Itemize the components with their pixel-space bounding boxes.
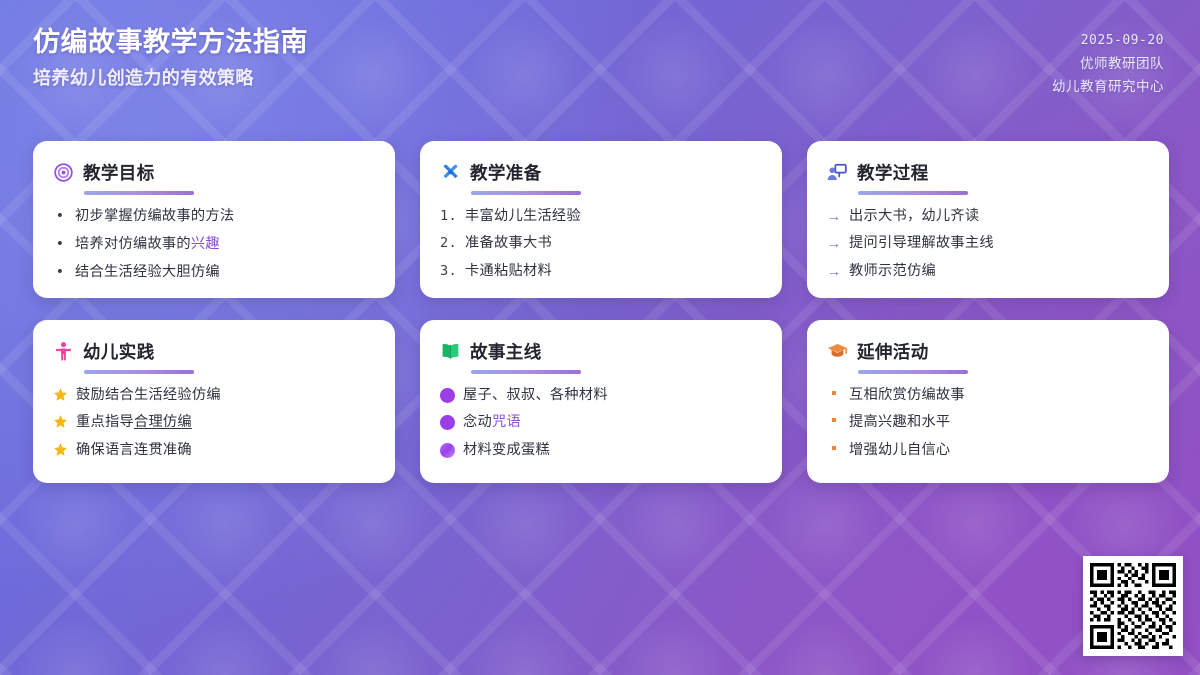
graduation-cap-icon (827, 341, 848, 362)
list-number: 2. (440, 234, 457, 252)
list-item-text: 重点指导合理仿编 (76, 413, 375, 431)
card-header: 教学准备 (440, 160, 762, 185)
list-number: 1. (440, 207, 457, 225)
list-item: •初步掌握仿编故事的方法 (53, 207, 375, 226)
header-date: 2025-09-20 (1081, 32, 1164, 50)
list-item-label: 教师示范仿编 (849, 263, 936, 279)
list-item: •结合生活经验大胆仿编 (53, 263, 375, 282)
list-item-label: 卡通粘贴材料 (465, 263, 552, 279)
dot-bullet-icon: • (53, 207, 67, 226)
list-item: •培养对仿编故事的兴趣 (53, 235, 375, 254)
page-title: 仿编故事教学方法指南 (33, 26, 308, 60)
square-bullet-icon: ▪ (827, 386, 841, 403)
list-item-text: 互相欣赏仿编故事 (849, 386, 1149, 404)
list-item: 材料变成蛋糕 (440, 441, 762, 459)
list-item-label: 出示大书，幼儿齐读 (849, 208, 979, 224)
dot-bullet-icon: • (53, 263, 67, 282)
card-header: 幼儿实践 (53, 339, 375, 364)
list-item: 1.丰富幼儿生活经验 (440, 207, 762, 225)
list-item-label: 提问引导理解故事主线 (849, 235, 994, 251)
child-icon (53, 341, 74, 362)
header-team: 优师教研团队 (1080, 55, 1164, 73)
card-item-list: ▪互相欣赏仿编故事▪提高兴趣和水平▪增强幼儿自信心 (827, 386, 1149, 459)
list-item: ▪提高兴趣和水平 (827, 413, 1149, 431)
list-item-label: 重点指导 (76, 414, 134, 430)
list-item-label: 确保语言连贯准确 (76, 442, 192, 458)
qr-code-container[interactable] (1083, 556, 1183, 656)
list-item-text: 培养对仿编故事的兴趣 (75, 235, 375, 253)
list-item-label: 准备故事大书 (465, 235, 552, 251)
highlighted-term: 咒语 (492, 414, 521, 430)
list-item-text: 鼓励结合生活经验仿编 (76, 386, 375, 404)
title-underline-bar (471, 370, 581, 374)
card-title: 故事主线 (470, 339, 542, 364)
card-title: 延伸活动 (857, 339, 929, 364)
list-item-label: 增强幼儿自信心 (849, 442, 950, 458)
list-item-text: 初步掌握仿编故事的方法 (75, 207, 375, 225)
list-item: 屋子、叔叔、各种材料 (440, 386, 762, 404)
list-item-text: 丰富幼儿生活经验 (465, 207, 762, 225)
list-item: →提问引导理解故事主线 (827, 234, 1149, 252)
list-item-label: 初步掌握仿编故事的方法 (75, 208, 234, 224)
page-header: 仿编故事教学方法指南 培养幼儿创造力的有效策略 2025-09-20 优师教研团… (0, 0, 1200, 125)
list-item-label: 丰富幼儿生活经验 (465, 208, 581, 224)
list-item-text: 卡通粘贴材料 (465, 262, 762, 280)
list-item-label: 材料变成蛋糕 (463, 442, 550, 458)
page-subtitle: 培养幼儿创造力的有效策略 (33, 67, 308, 90)
list-item-label: 屋子、叔叔、各种材料 (463, 387, 608, 403)
target-icon (53, 162, 74, 183)
list-item: →教师示范仿编 (827, 262, 1149, 280)
arrow-bullet-icon: → (827, 207, 841, 225)
list-item: →出示大书，幼儿齐读 (827, 207, 1149, 225)
list-item: 确保语言连贯准确 (53, 441, 375, 459)
list-item-text: 提高兴趣和水平 (849, 413, 1149, 431)
list-item-text: 准备故事大书 (465, 234, 762, 252)
card-title: 教学过程 (857, 160, 929, 185)
list-item-text: 确保语言连贯准确 (76, 441, 375, 459)
arrow-bullet-icon: → (827, 234, 841, 252)
list-item-text: 出示大书，幼儿齐读 (849, 207, 1149, 225)
list-item: 鼓励结合生活经验仿编 (53, 386, 375, 404)
square-bullet-icon: ▪ (827, 441, 841, 458)
card-child-practice[interactable]: 幼儿实践鼓励结合生活经验仿编重点指导合理仿编确保语言连贯准确 (33, 320, 395, 483)
card-teaching-process[interactable]: 教学过程→出示大书，幼儿齐读→提问引导理解故事主线→教师示范仿编 (807, 141, 1169, 298)
title-underline-bar (858, 191, 968, 195)
list-item-text: 提问引导理解故事主线 (849, 234, 1149, 252)
square-bullet-icon: ▪ (827, 413, 841, 430)
card-header: 故事主线 (440, 339, 762, 364)
card-item-list: 屋子、叔叔、各种材料念动咒语材料变成蛋糕 (440, 386, 762, 459)
list-item: 重点指导合理仿编 (53, 413, 375, 431)
list-item-text: 材料变成蛋糕 (463, 441, 762, 459)
title-underline-bar (84, 370, 194, 374)
list-item-label: 培养对仿编故事的 (75, 236, 191, 252)
card-item-list: 1.丰富幼儿生活经验2.准备故事大书3.卡通粘贴材料 (440, 207, 762, 280)
star-bullet-icon (53, 387, 68, 402)
list-item-text: 屋子、叔叔、各种材料 (463, 386, 762, 404)
highlighted-term: 兴趣 (191, 236, 220, 252)
circle-bullet-icon (440, 443, 455, 458)
card-item-list: →出示大书，幼儿齐读→提问引导理解故事主线→教师示范仿编 (827, 207, 1149, 280)
list-item-label: 念动 (463, 414, 492, 430)
list-item-text: 增强幼儿自信心 (849, 441, 1149, 459)
card-title: 教学准备 (470, 160, 542, 185)
arrow-bullet-icon: → (827, 262, 841, 280)
underlined-term: 合理仿编 (134, 414, 192, 430)
title-underline-bar (84, 191, 194, 195)
list-item-text: 念动咒语 (463, 413, 762, 431)
list-item-text: 结合生活经验大胆仿编 (75, 263, 375, 281)
card-teaching-prep[interactable]: 教学准备1.丰富幼儿生活经验2.准备故事大书3.卡通粘贴材料 (420, 141, 782, 298)
title-underline-bar (471, 191, 581, 195)
card-header: 教学目标 (53, 160, 375, 185)
list-item: 3.卡通粘贴材料 (440, 262, 762, 280)
star-bullet-icon (53, 414, 68, 429)
list-item-text: 教师示范仿编 (849, 262, 1149, 280)
header-meta: 2025-09-20 优师教研团队 幼儿教育研究中心 (1052, 26, 1164, 96)
list-item-label: 鼓励结合生活经验仿编 (76, 387, 221, 403)
header-org: 幼儿教育研究中心 (1052, 78, 1164, 96)
qr-code (1090, 563, 1176, 649)
title-underline-bar (858, 370, 968, 374)
header-left: 仿编故事教学方法指南 培养幼儿创造力的有效策略 (33, 26, 308, 90)
list-item: ▪增强幼儿自信心 (827, 441, 1149, 459)
dot-bullet-icon: • (53, 235, 67, 254)
list-item-label: 互相欣赏仿编故事 (849, 387, 965, 403)
card-grid: 教学目标•初步掌握仿编故事的方法•培养对仿编故事的兴趣•结合生活经验大胆仿编教学… (33, 141, 1174, 483)
presentation-icon (827, 162, 848, 183)
card-header: 教学过程 (827, 160, 1149, 185)
card-story-mainline[interactable]: 故事主线屋子、叔叔、各种材料念动咒语材料变成蛋糕 (420, 320, 782, 483)
list-item-label: 提高兴趣和水平 (849, 414, 950, 430)
card-title: 教学目标 (83, 160, 155, 185)
card-title: 幼儿实践 (83, 339, 155, 364)
open-book-icon (440, 341, 461, 362)
list-item: ▪互相欣赏仿编故事 (827, 386, 1149, 404)
card-header: 延伸活动 (827, 339, 1149, 364)
list-item: 2.准备故事大书 (440, 234, 762, 252)
circle-bullet-icon (440, 388, 455, 403)
card-teaching-goals[interactable]: 教学目标•初步掌握仿编故事的方法•培养对仿编故事的兴趣•结合生活经验大胆仿编 (33, 141, 395, 298)
card-item-list: •初步掌握仿编故事的方法•培养对仿编故事的兴趣•结合生活经验大胆仿编 (53, 207, 375, 281)
tools-icon (440, 162, 461, 183)
star-bullet-icon (53, 442, 68, 457)
list-item: 念动咒语 (440, 413, 762, 431)
list-number: 3. (440, 262, 457, 280)
list-item-label: 结合生活经验大胆仿编 (75, 264, 220, 280)
card-item-list: 鼓励结合生活经验仿编重点指导合理仿编确保语言连贯准确 (53, 386, 375, 459)
circle-bullet-icon (440, 415, 455, 430)
card-extension-activities[interactable]: 延伸活动▪互相欣赏仿编故事▪提高兴趣和水平▪增强幼儿自信心 (807, 320, 1169, 483)
